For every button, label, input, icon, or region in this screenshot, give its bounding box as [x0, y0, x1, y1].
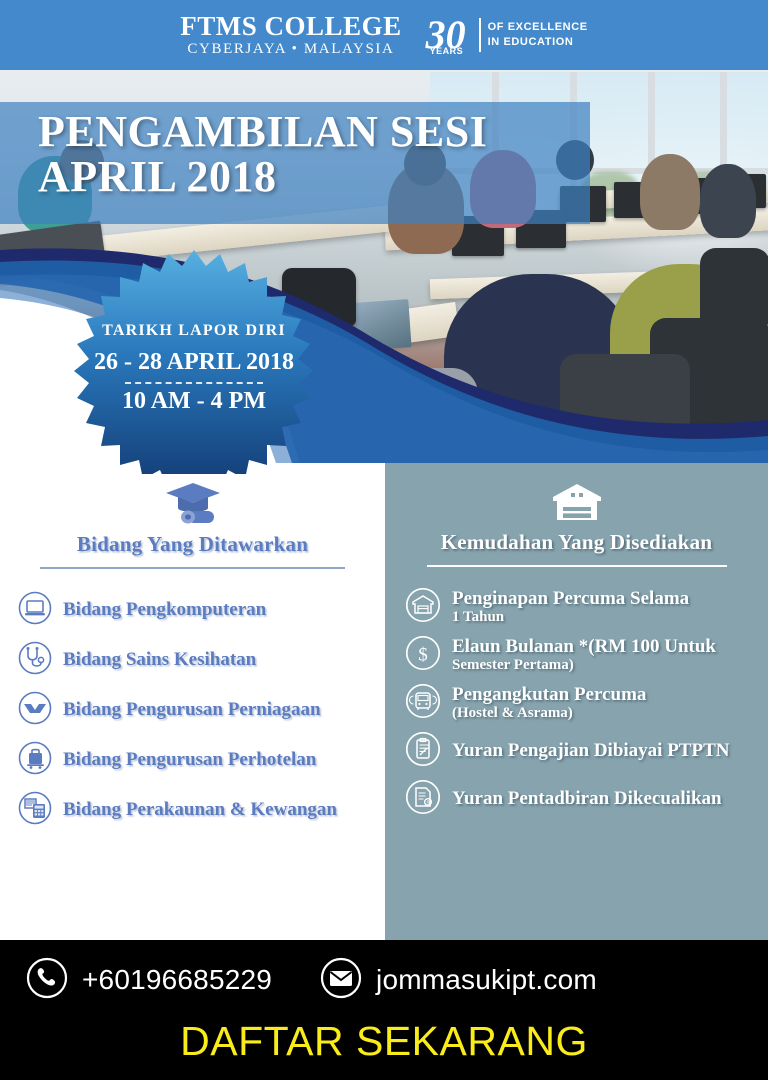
footer-bar: +60196685229 jommasukipt.com DAFTAR SEKA…	[0, 940, 768, 1080]
list-item-label: Bidang Perakaunan & Kewangan	[63, 799, 337, 820]
list-item-label: Penginapan Percuma Selama 1 Tahun	[452, 588, 689, 626]
cta-text: DAFTAR SEKARANG	[0, 1018, 768, 1065]
phone-icon	[26, 957, 68, 1004]
laptop-icon	[18, 591, 52, 630]
list-item[interactable]: Yuran Pengajian Dibiayai PTPTN	[385, 727, 768, 775]
dollar-icon: $	[405, 635, 441, 676]
starburst-dates: 26 - 28 APRIL 2018	[94, 349, 294, 376]
bus-icon	[405, 683, 441, 724]
list-item-label: Pengangkutan Percuma (Hostel & Asrama)	[452, 684, 646, 722]
date-starburst-badge: TARIKH LAPOR DIRI 26 - 28 APRIL 2018 10 …	[70, 248, 318, 474]
list-item-label: Elaun Bulanan *(RM 100 Untuk Semester Pe…	[452, 636, 716, 674]
content-columns: Bidang Yang Ditawarkan Bidang Pengkomput…	[0, 428, 768, 940]
list-item[interactable]: Bidang Sains Kesihatan	[0, 635, 385, 685]
list-item-sub: 1 Tahun	[452, 609, 689, 626]
list-item-title: Elaun Bulanan *(RM 100 Untuk	[452, 636, 716, 657]
list-item-label: Bidang Pengkomputeran	[63, 599, 266, 620]
starburst-divider	[125, 382, 263, 384]
list-item[interactable]: Bidang Perakaunan & Kewangan	[0, 785, 385, 835]
programs-heading: Bidang Yang Ditawarkan	[0, 532, 385, 557]
poster-title: PENGAMBILAN SESI APRIL 2018	[38, 110, 487, 200]
badge-tagline-line2: IN EDUCATION	[488, 35, 588, 50]
invoice-icon: $	[405, 779, 441, 820]
badge-years-label: YEARS	[430, 47, 464, 56]
graduation-cap-icon	[164, 480, 222, 526]
brand-name: FTMS COLLEGE	[180, 13, 401, 40]
list-item-title: Pengangkutan Percuma	[452, 684, 646, 705]
poster-root: FTMS COLLEGE CYBERJAYA • MALAYSIA 30 YEA…	[0, 0, 768, 1080]
handshake-icon	[18, 691, 52, 730]
phone-contact[interactable]: +60196685229	[26, 957, 272, 1004]
svg-text:$: $	[427, 799, 430, 806]
badge-divider	[479, 18, 481, 52]
facilities-list: Penginapan Percuma Selama 1 Tahun $ Elau…	[385, 583, 768, 823]
list-item[interactable]: Bidang Pengurusan Perniagaan	[0, 685, 385, 735]
calculator-icon	[18, 791, 52, 830]
luggage-cart-icon	[18, 741, 52, 780]
list-item-title: Yuran Pengajian Dibiayai PTPTN	[452, 740, 729, 761]
facilities-column: Kemudahan Yang Disediakan Penginapa	[385, 428, 768, 940]
list-item[interactable]: Pengangkutan Percuma (Hostel & Asrama)	[385, 679, 768, 727]
list-item-label: Bidang Pengurusan Perhotelan	[63, 749, 316, 770]
starburst-label: TARIKH LAPOR DIRI	[102, 322, 286, 340]
list-item[interactable]: $ Elaun Bulanan *(RM 100 Untuk Semester …	[385, 631, 768, 679]
svg-text:$: $	[418, 644, 428, 665]
starburst-time: 10 AM - 4 PM	[122, 388, 266, 415]
clipboard-icon	[405, 731, 441, 772]
list-item-label: Yuran Pengajian Dibiayai PTPTN	[452, 740, 729, 761]
badge-number: 30 YEARS	[426, 16, 472, 54]
programs-divider	[40, 567, 345, 569]
list-item-title: Penginapan Percuma Selama	[452, 588, 689, 609]
brand-block: FTMS COLLEGE CYBERJAYA • MALAYSIA	[180, 13, 401, 57]
badge-tagline: OF EXCELLENCE IN EDUCATION	[488, 20, 588, 50]
site-header: FTMS COLLEGE CYBERJAYA • MALAYSIA 30 YEA…	[0, 0, 768, 70]
list-item-label: Bidang Sains Kesihatan	[63, 649, 256, 670]
list-item[interactable]: Penginapan Percuma Selama 1 Tahun	[385, 583, 768, 631]
email-contact[interactable]: jommasukipt.com	[320, 957, 597, 1004]
list-item[interactable]: Bidang Pengkomputeran	[0, 585, 385, 635]
email-address: jommasukipt.com	[376, 964, 597, 996]
phone-number: +60196685229	[82, 964, 272, 996]
stethoscope-icon	[18, 641, 52, 680]
facilities-heading: Kemudahan Yang Disediakan	[385, 530, 768, 555]
list-item-label: Yuran Pentadbiran Dikecualikan	[452, 788, 722, 809]
warehouse-icon	[551, 480, 603, 524]
programs-column: Bidang Yang Ditawarkan Bidang Pengkomput…	[0, 428, 385, 940]
facilities-header: Kemudahan Yang Disediakan	[385, 428, 768, 567]
list-item-title: Yuran Pentadbiran Dikecualikan	[452, 788, 722, 809]
anniversary-badge: 30 YEARS OF EXCELLENCE IN EDUCATION	[426, 16, 588, 54]
warehouse-icon	[405, 587, 441, 628]
list-item[interactable]: Bidang Pengurusan Perhotelan	[0, 735, 385, 785]
list-item[interactable]: $ Yuran Pentadbiran Dikecualikan	[385, 775, 768, 823]
list-item-sub: (Hostel & Asrama)	[452, 705, 646, 722]
contact-row: +60196685229 jommasukipt.com	[0, 954, 768, 1006]
brand-location: CYBERJAYA • MALAYSIA	[180, 42, 401, 57]
list-item-label: Bidang Pengurusan Perniagaan	[63, 699, 321, 720]
envelope-icon	[320, 957, 362, 1004]
list-item-sub: Semester Pertama)	[452, 657, 716, 674]
facilities-divider	[427, 565, 727, 567]
badge-tagline-line1: OF EXCELLENCE	[488, 20, 588, 35]
programs-list: Bidang Pengkomputeran Bidang Sain	[0, 585, 385, 835]
